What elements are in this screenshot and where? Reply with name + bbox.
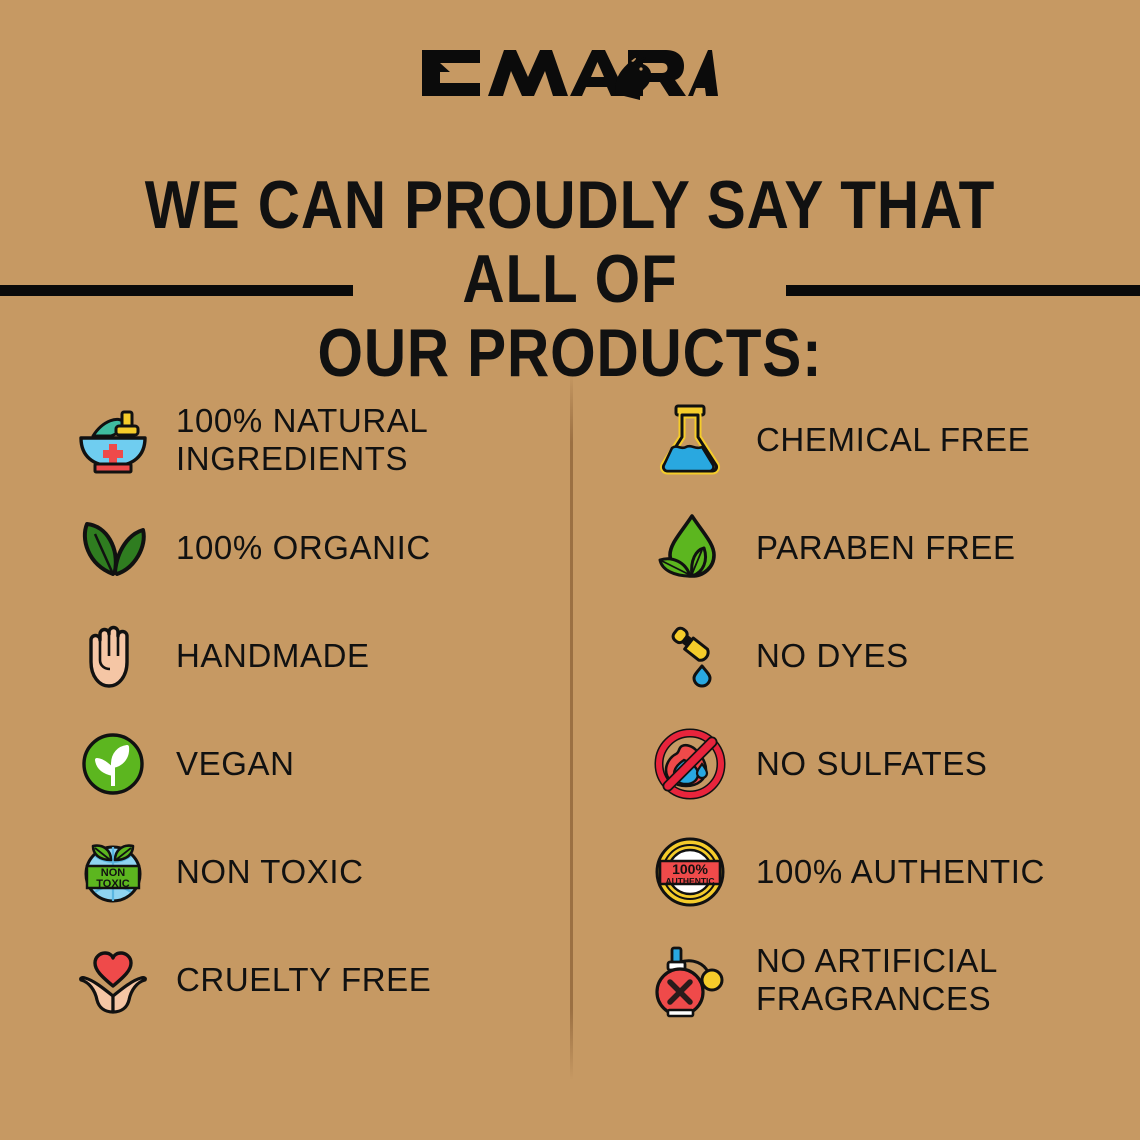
list-item: NO DYES <box>650 602 1140 710</box>
horse-head-logo <box>420 48 720 114</box>
authentic-line2: AUTHENTIC <box>665 876 714 886</box>
list-item-label: NO ARTIFICIAL FRAGRANCES <box>756 942 998 1018</box>
non-toxic-line2: TOXIC <box>96 878 129 890</box>
list-item-label: 100% ORGANIC <box>176 529 431 567</box>
list-item-label: 100% AUTHENTIC <box>756 853 1045 891</box>
flask-icon <box>650 400 730 480</box>
list-item: NON TOXIC NON TOXIC <box>72 818 570 926</box>
non-toxic-badge-icon: NON TOXIC <box>72 831 154 913</box>
vegan-badge-icon <box>72 723 154 805</box>
list-item-label: NO SULFATES <box>756 745 988 783</box>
benefits-columns: 100% NATURAL INGREDIENTS 100% ORGANIC <box>0 386 1140 1086</box>
list-item-label: NO DYES <box>756 637 909 675</box>
list-item: 100% ORGANIC <box>72 494 570 602</box>
list-item: 100% NATURAL INGREDIENTS <box>72 386 570 494</box>
rule-left <box>0 285 353 296</box>
list-item-label: 100% NATURAL INGREDIENTS <box>176 402 428 478</box>
list-item-label: VEGAN <box>176 745 295 783</box>
benefits-column-right: CHEMICAL FREE PARABEN FREE <box>570 386 1140 1086</box>
rule-right <box>786 285 1140 296</box>
list-item: NO ARTIFICIAL FRAGRANCES <box>650 926 1140 1034</box>
page-title: WE CAN PROUDLY SAY THAT ALL OF OUR PRODU… <box>80 168 1060 390</box>
list-item: PARABEN FREE <box>650 494 1140 602</box>
no-sulfates-icon <box>650 724 730 804</box>
list-item: VEGAN <box>72 710 570 818</box>
perfume-bottle-icon <box>650 940 730 1020</box>
list-item: NO SULFATES <box>650 710 1140 818</box>
hands-heart-icon <box>72 939 154 1021</box>
authentic-line1: 100% <box>672 861 708 877</box>
list-item-label: CHEMICAL FREE <box>756 421 1030 459</box>
list-item: 100% AUTHENTIC 100% AUTHENTIC <box>650 818 1140 926</box>
list-item: CHEMICAL FREE <box>650 386 1140 494</box>
list-item-label: NON TOXIC <box>176 853 364 891</box>
authentic-badge-icon: 100% AUTHENTIC <box>650 832 730 912</box>
list-item-label: HANDMADE <box>176 637 370 675</box>
droplet-leaf-icon <box>650 508 730 588</box>
list-item: HANDMADE <box>72 602 570 710</box>
brand-logo <box>0 48 1140 114</box>
list-item-label: CRUELTY FREE <box>176 961 431 999</box>
list-item-label: PARABEN FREE <box>756 529 1016 567</box>
list-item: CRUELTY FREE <box>72 926 570 1034</box>
benefits-column-left: 100% NATURAL INGREDIENTS 100% ORGANIC <box>0 386 570 1086</box>
hand-icon <box>72 615 154 697</box>
leaves-icon <box>72 507 154 589</box>
dropper-icon <box>650 616 730 696</box>
mortar-pestle-icon <box>72 399 154 481</box>
